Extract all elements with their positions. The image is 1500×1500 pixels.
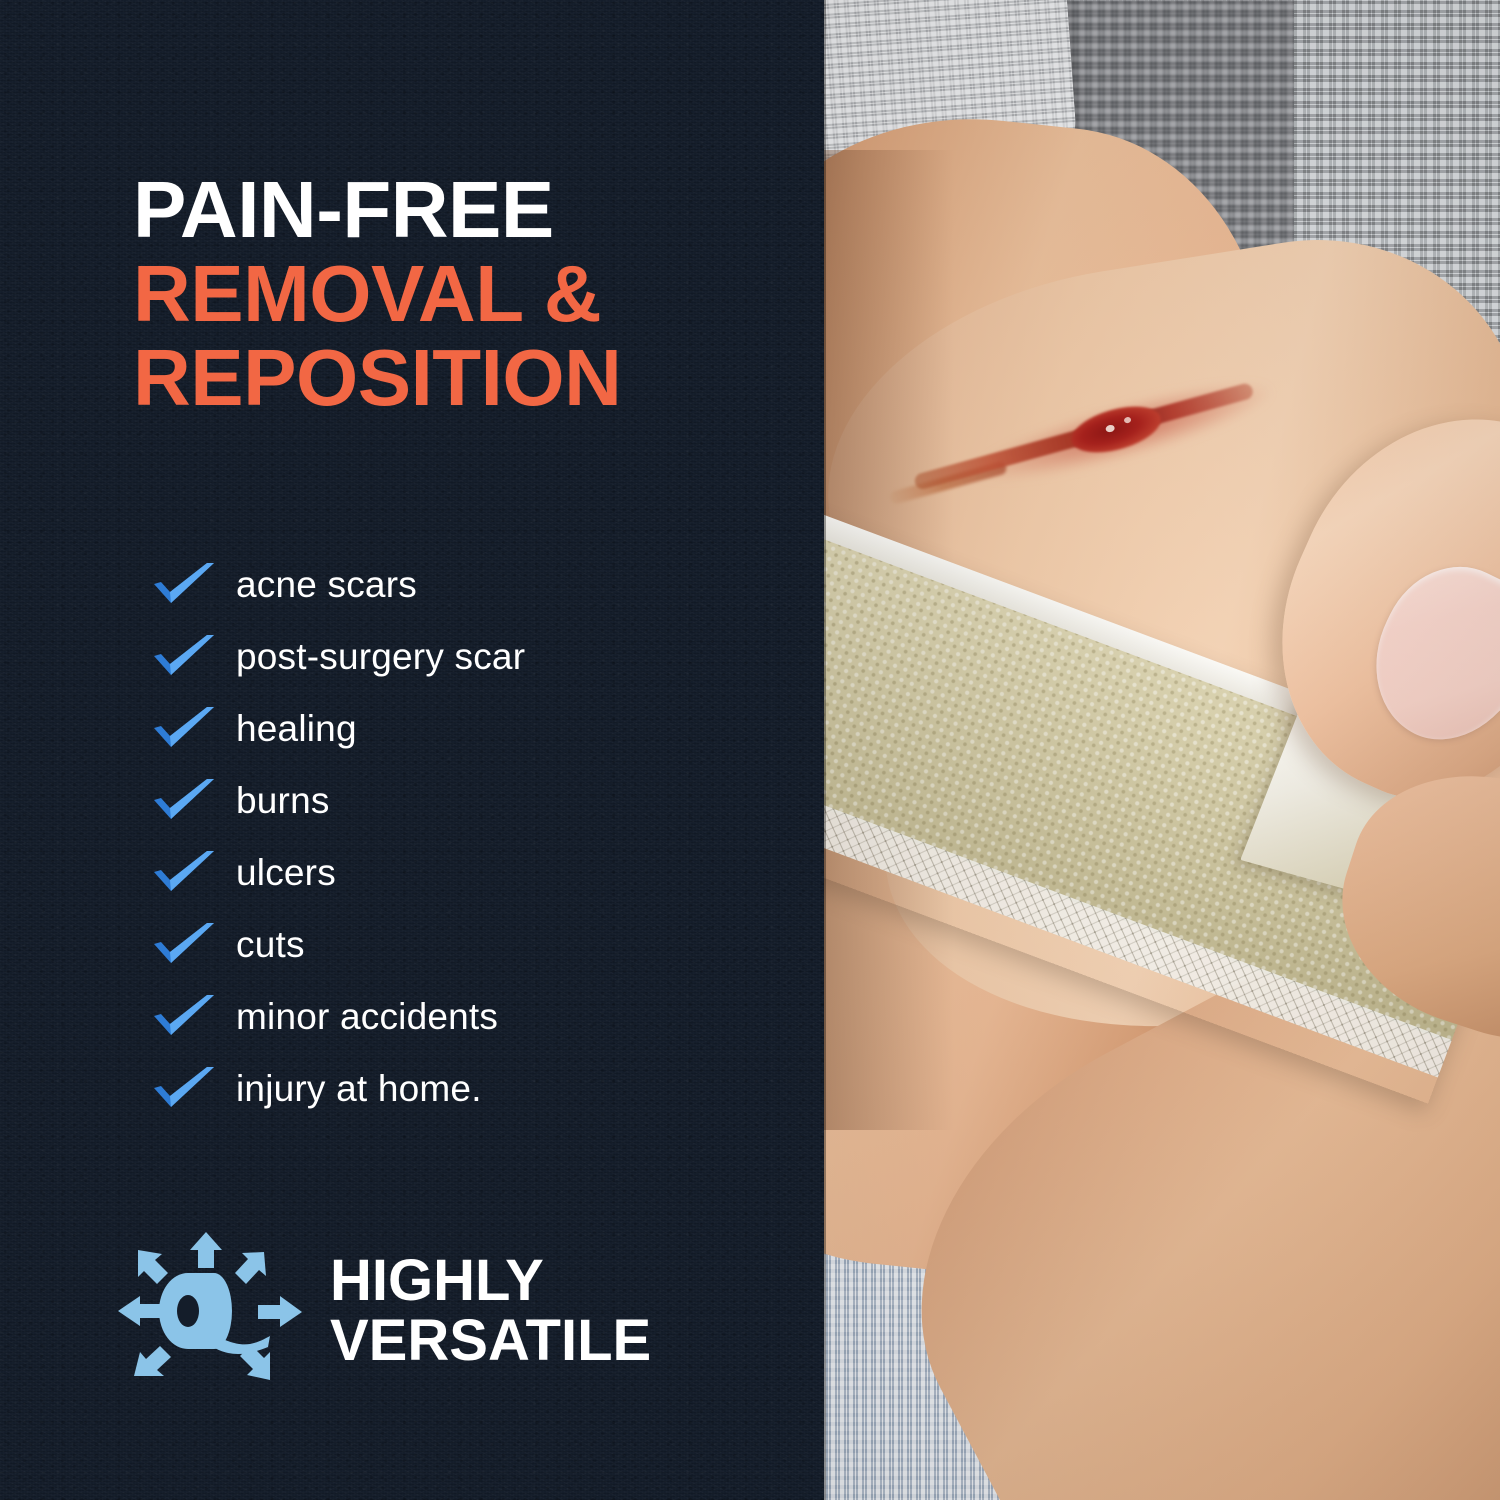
check-icon (152, 1065, 216, 1111)
check-icon (152, 993, 216, 1039)
list-item: burns (152, 764, 525, 836)
list-item-label: post-surgery scar (236, 638, 525, 675)
list-item-label: ulcers (236, 854, 336, 891)
list-item: post-surgery scar (152, 620, 525, 692)
highly-versatile-badge: HIGHLY VERSATILE (118, 1228, 651, 1394)
badge-line-2: VERSATILE (330, 1311, 651, 1371)
list-item: ulcers (152, 836, 525, 908)
product-feature-graphic: PAIN-FREE REMOVAL & REPOSITION acne scar… (0, 0, 1500, 1500)
list-item: cuts (152, 908, 525, 980)
tape-roll-multidirectional-arrows-icon (118, 1228, 304, 1394)
list-item: minor accidents (152, 980, 525, 1052)
list-item: healing (152, 692, 525, 764)
headline-line-1: PAIN-FREE (133, 168, 773, 252)
list-item: acne scars (152, 548, 525, 620)
page-title: PAIN-FREE REMOVAL & REPOSITION (133, 168, 773, 420)
product-photo (824, 0, 1500, 1500)
left-info-panel: PAIN-FREE REMOVAL & REPOSITION acne scar… (0, 0, 824, 1500)
check-icon (152, 633, 216, 679)
headline-line-3: REPOSITION (133, 336, 773, 420)
list-item-label: burns (236, 782, 330, 819)
list-item-label: cuts (236, 926, 305, 963)
check-icon (152, 849, 216, 895)
badge-line-1: HIGHLY (330, 1251, 651, 1311)
check-icon (152, 705, 216, 751)
panel-divider (824, 0, 826, 1500)
use-case-checklist: acne scars post-surgery scar healing (152, 548, 525, 1124)
check-icon (152, 561, 216, 607)
check-icon (152, 777, 216, 823)
list-item-label: healing (236, 710, 357, 747)
list-item: injury at home. (152, 1052, 525, 1124)
list-item-label: injury at home. (236, 1070, 482, 1107)
check-icon (152, 921, 216, 967)
badge-text: HIGHLY VERSATILE (330, 1251, 651, 1371)
list-item-label: minor accidents (236, 998, 498, 1035)
headline-line-2: REMOVAL & (133, 252, 773, 336)
list-item-label: acne scars (236, 566, 417, 603)
